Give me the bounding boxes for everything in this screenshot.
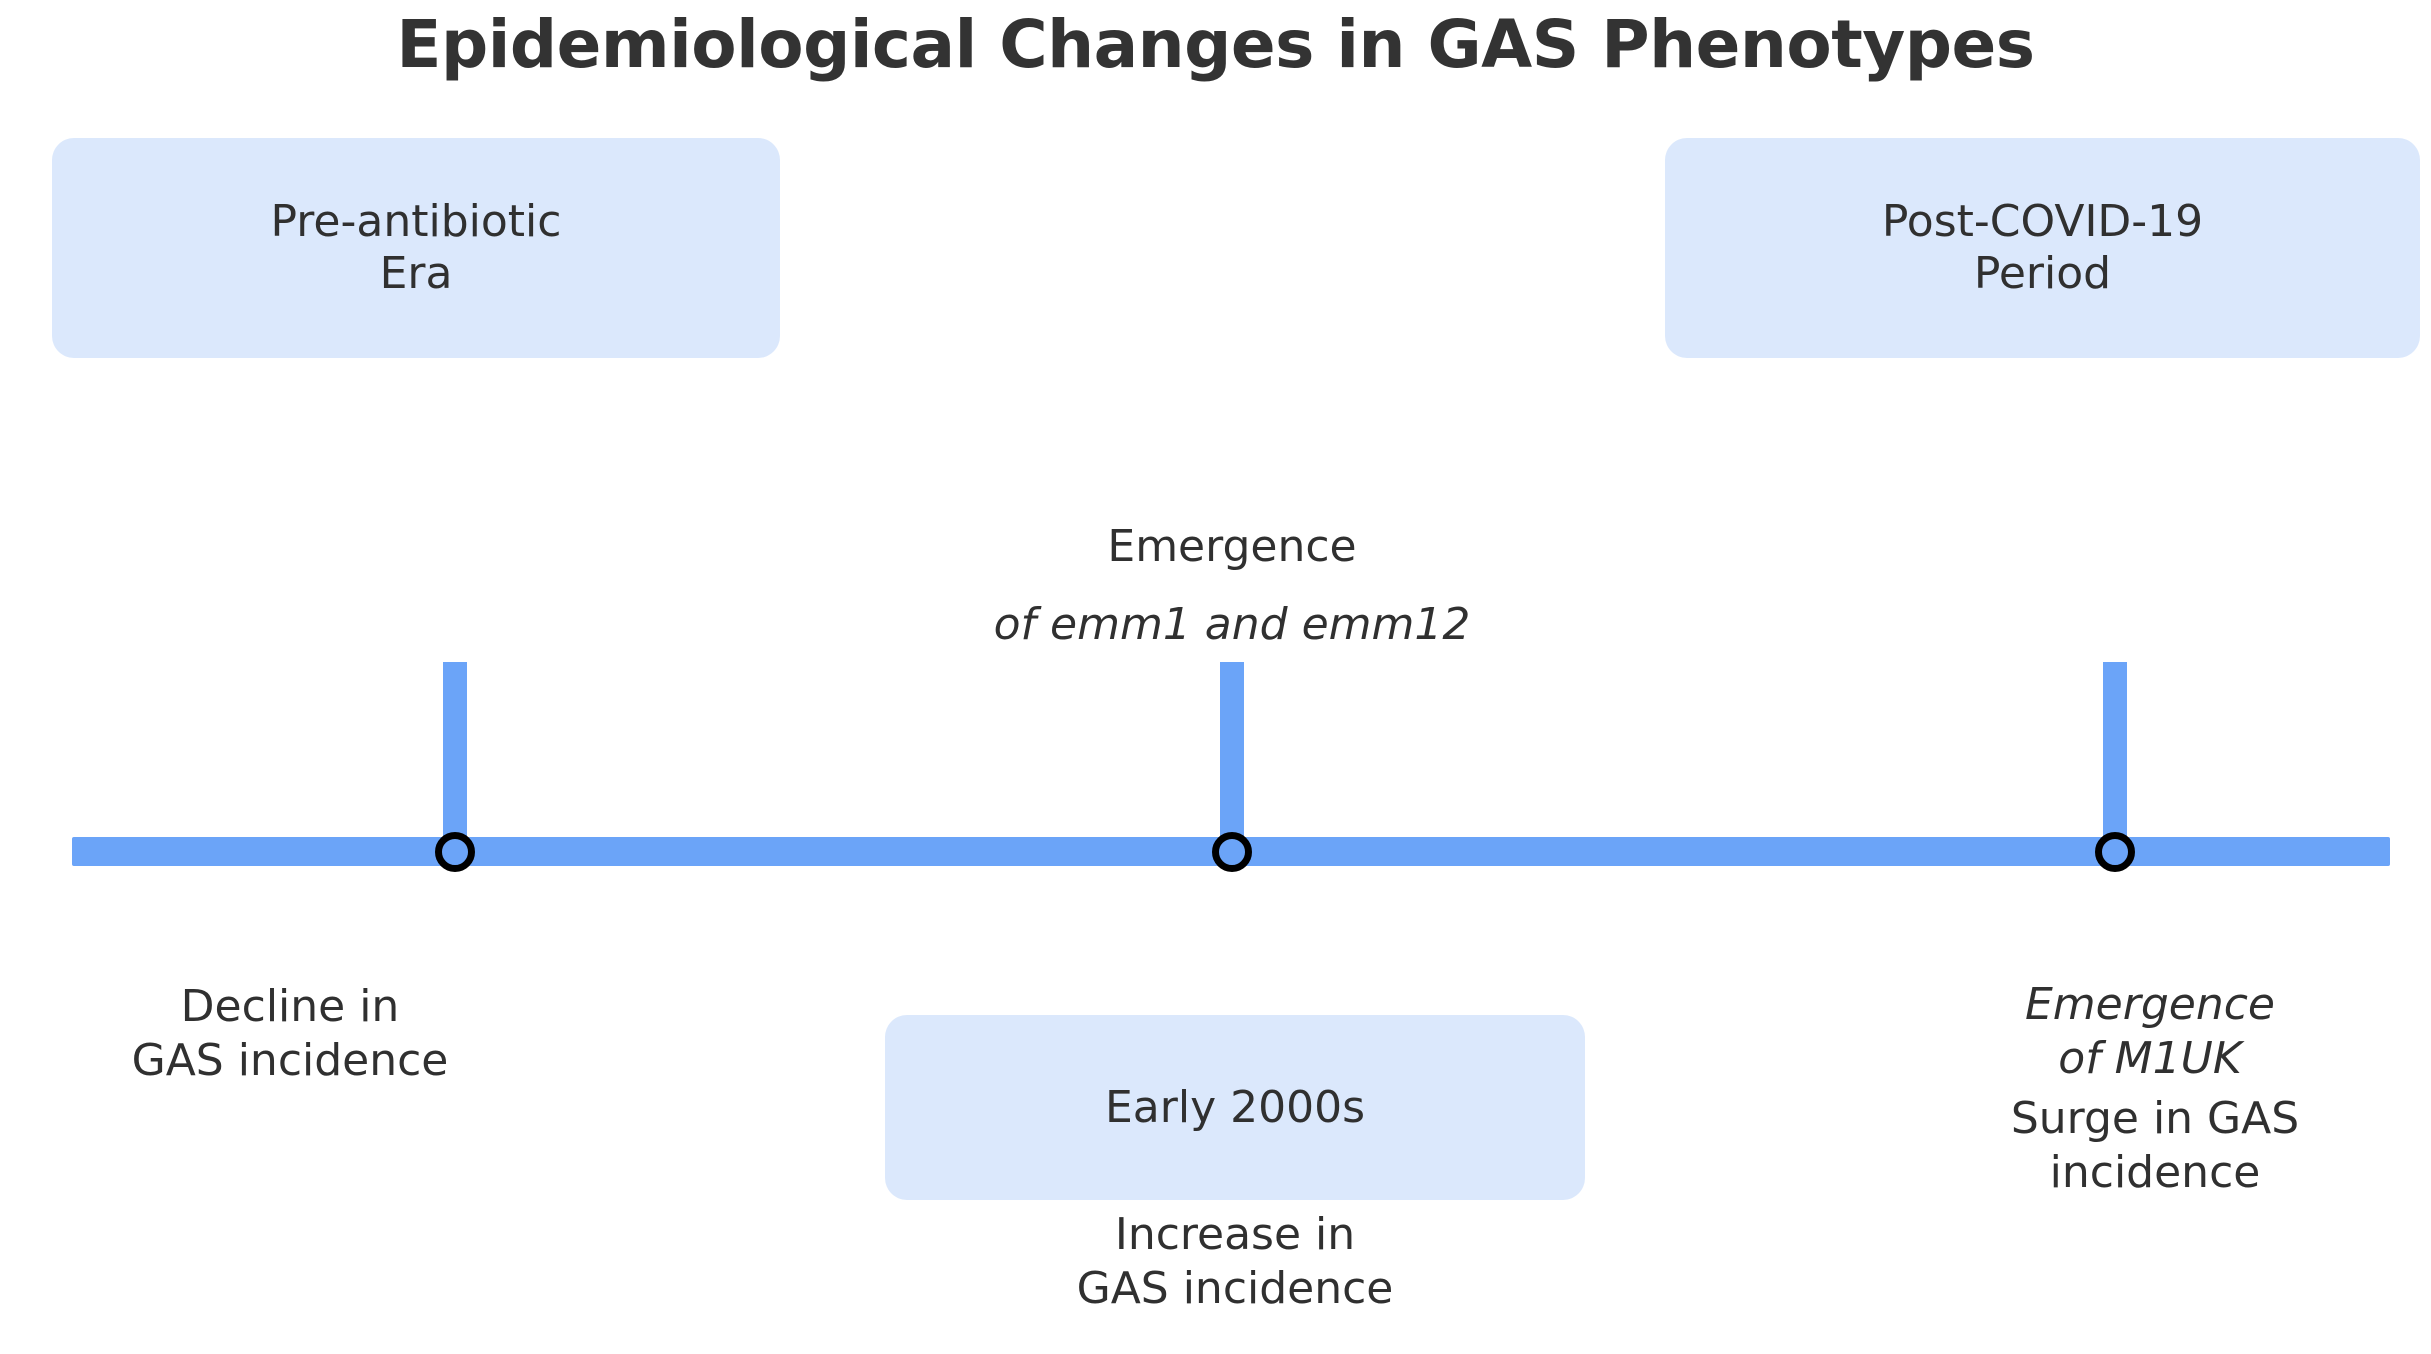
timeline-description-decline: Decline in GAS incidence [10, 980, 570, 1087]
period-box-pre-antibiotic-line-1: Pre-antibiotic [271, 196, 562, 247]
period-box-pre-antibiotic-era: Pre-antibiotic Era [52, 138, 780, 358]
timeline-description-decline-line-1: Decline in [181, 981, 400, 1032]
timeline-date-box-early-2000s-label: Early 2000s [1105, 1082, 1365, 1134]
period-box-post-covid-period: Post-COVID-19 Period [1665, 138, 2420, 358]
timeline-description-increase-line-1: Increase in [1115, 1209, 1355, 1260]
timeline-description-increase: Increase in GAS incidence [980, 1208, 1490, 1315]
timeline-description-surge-line-2: incidence [2050, 1147, 2261, 1198]
timeline-marker-3[interactable] [2095, 832, 2135, 872]
timeline-event-label-m1uk: Emergence of M1UK [1900, 978, 2400, 1085]
timeline-description-decline-line-2: GAS incidence [132, 1035, 449, 1086]
timeline-description-surge: Surge in GAS incidence [1900, 1092, 2410, 1199]
timeline-event-label-emm1-emm12-line-1: Emergence [1107, 521, 1356, 572]
timeline-event-label-m1uk-line-2: of M1UK [2058, 1033, 2241, 1084]
timeline-marker-1[interactable] [435, 832, 475, 872]
period-box-pre-antibiotic-text: Pre-antibiotic Era [271, 196, 562, 300]
timeline-event-label-emm1-emm12: Emergence of emm1 and emm12 [832, 520, 1632, 651]
timeline-description-surge-line-1: Surge in GAS [2011, 1093, 2299, 1144]
timeline-diagram: Epidemiological Changes in GAS Phenotype… [0, 0, 2431, 1354]
timeline-marker-2[interactable] [1212, 832, 1252, 872]
timeline-date-box-early-2000s: Early 2000s [885, 1015, 1585, 1200]
timeline-event-label-m1uk-line-1: Emergence [2025, 979, 2275, 1030]
period-box-post-covid-line-2: Period [1974, 248, 2111, 299]
timeline-event-label-emm1-emm12-line-2: of emm1 and emm12 [832, 598, 1632, 652]
period-box-post-covid-text: Post-COVID-19 Period [1882, 196, 2203, 300]
timeline-description-increase-line-2: GAS incidence [1077, 1263, 1394, 1314]
period-box-post-covid-line-1: Post-COVID-19 [1882, 196, 2203, 247]
page-title: Epidemiological Changes in GAS Phenotype… [0, 6, 2431, 83]
period-box-pre-antibiotic-line-2: Era [380, 248, 453, 299]
